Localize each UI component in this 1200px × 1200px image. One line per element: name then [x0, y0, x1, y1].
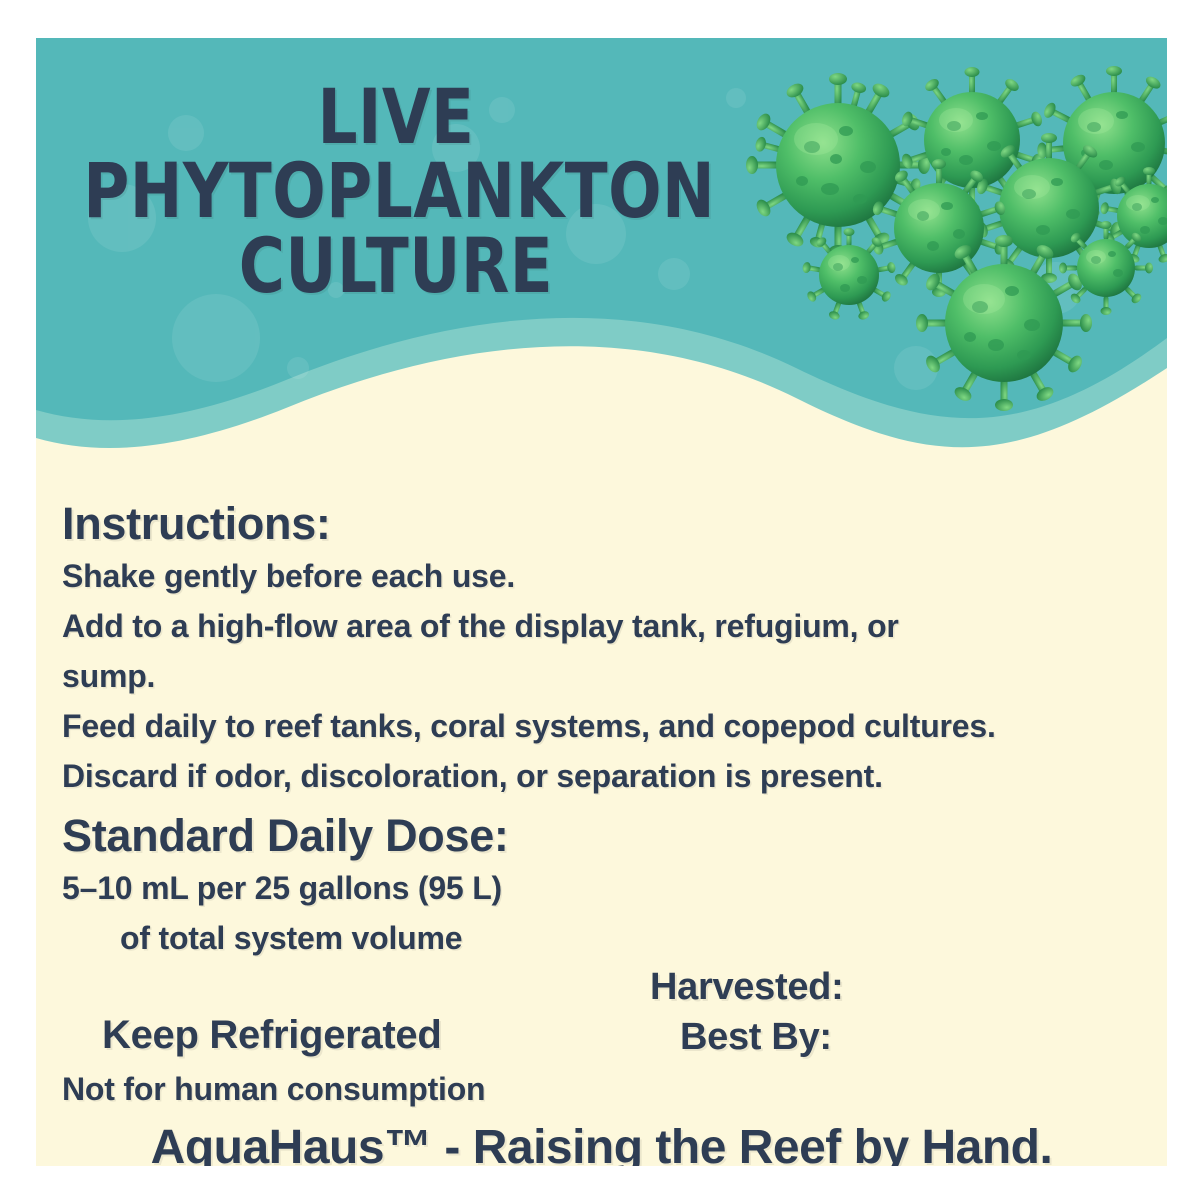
keep-refrigerated-notice: Keep Refrigerated [102, 1013, 441, 1058]
brand-tagline: AquaHaus™ - Raising the Reef by Hand. [36, 1120, 1167, 1166]
best-by-date-label: Best By: [680, 1016, 832, 1059]
instruction-line: Add to a high-flow area of the display t… [62, 608, 899, 645]
dose-amount-line: 5–10 mL per 25 gallons (95 L) [62, 870, 502, 907]
human-consumption-warning: Not for human consumption [62, 1071, 485, 1108]
instruction-line: Shake gently before each use. [62, 558, 515, 595]
product-label-card: LIVE PHYTOPLANKTON CULTURE Instructions:… [36, 38, 1167, 1166]
page-title: LIVE PHYTOPLANKTON CULTURE [83, 80, 709, 303]
instruction-line: sump. [62, 658, 155, 695]
dose-volume-line: of total system volume [120, 920, 462, 957]
plankton-cell [1059, 221, 1153, 315]
harvested-date-label: Harvested: [650, 966, 843, 1009]
instruction-line: Feed daily to reef tanks, coral systems,… [62, 708, 996, 745]
instructions-heading: Instructions: [62, 498, 331, 550]
label-body: Instructions: Shake gently before each u… [36, 468, 1167, 1166]
standard-daily-dose-heading: Standard Daily Dose: [62, 810, 509, 862]
instruction-line: Discard if odor, discoloration, or separ… [62, 758, 883, 795]
label-header-band: LIVE PHYTOPLANKTON CULTURE [36, 38, 1167, 468]
